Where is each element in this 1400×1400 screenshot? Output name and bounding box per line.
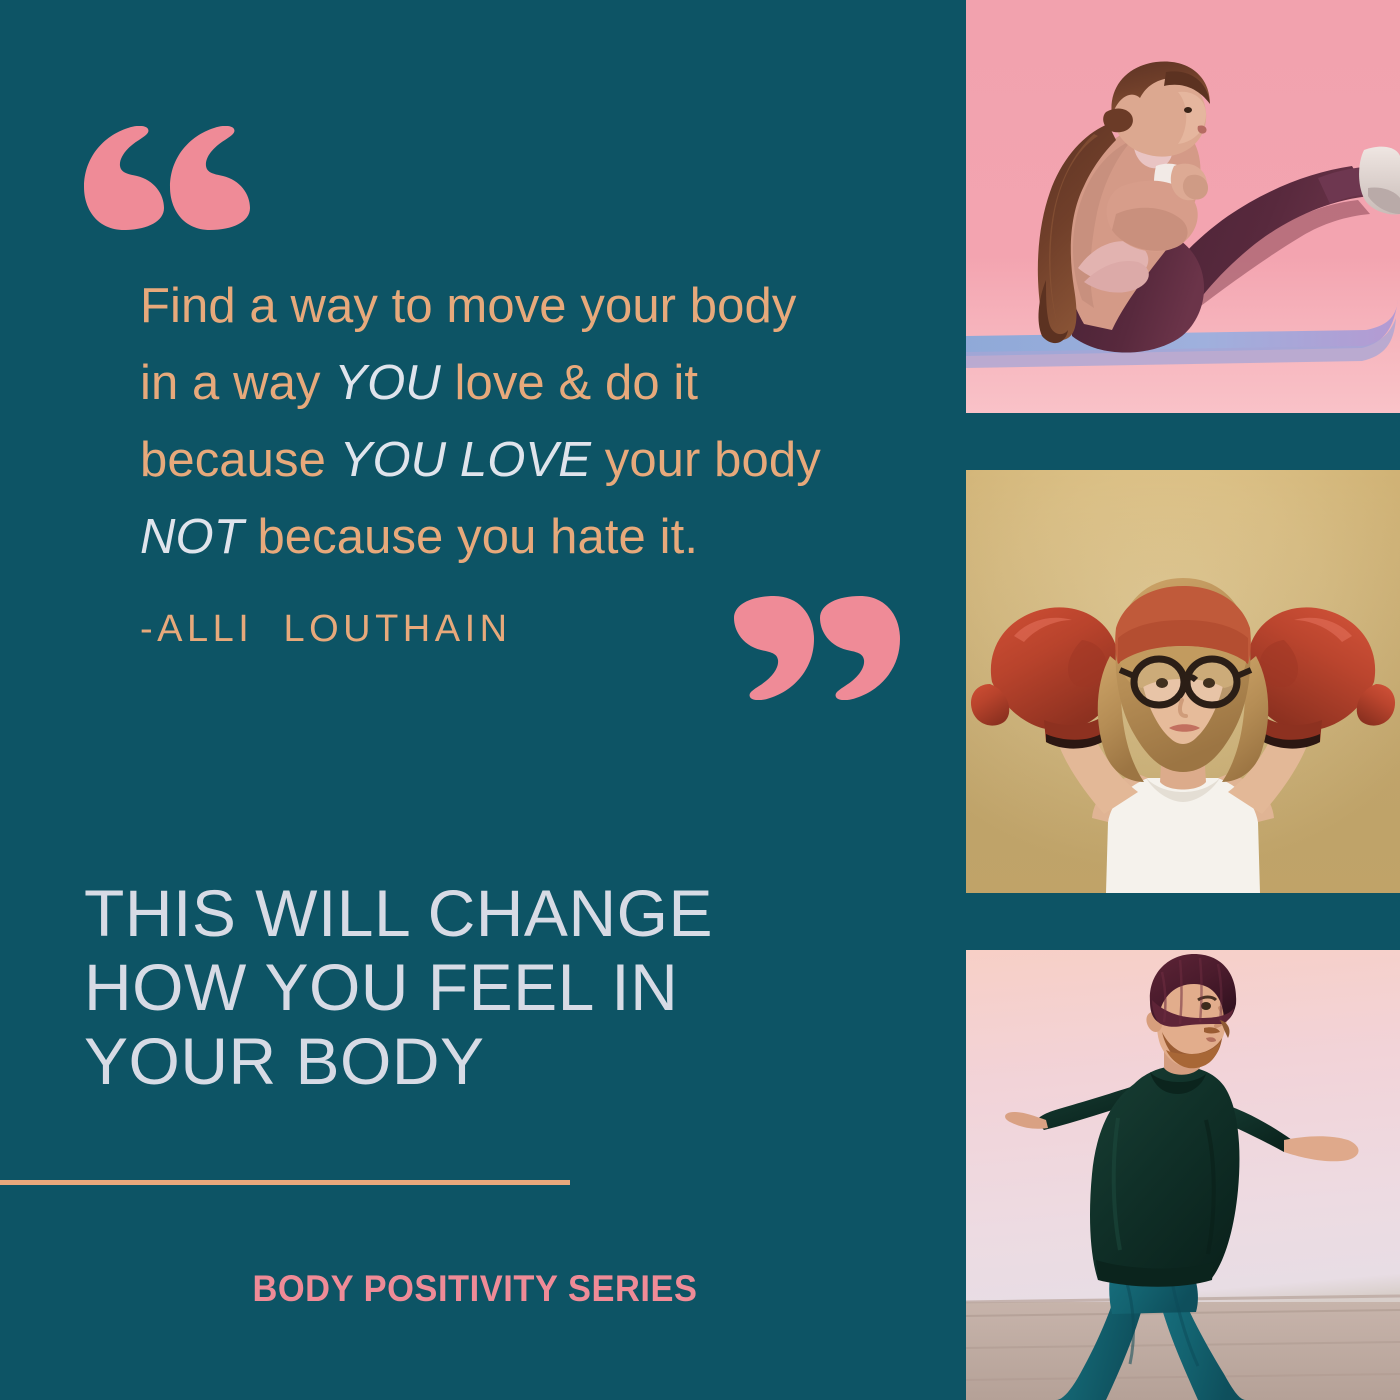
- text-column: Find a way to move your body in a way YO…: [0, 0, 960, 1400]
- headline-line-3: YOUR BODY: [84, 1024, 874, 1098]
- opening-quote-icon: [84, 126, 250, 230]
- poster-canvas: Find a way to move your body in a way YO…: [0, 0, 1400, 1400]
- quote-text: Find a way to move your body in a way YO…: [140, 268, 900, 576]
- quote-line-3: because YOU LOVE your body: [140, 433, 821, 487]
- quote-line-1: Find a way to move your body: [140, 279, 796, 333]
- girl-boxing-gloves-photo: [966, 470, 1400, 893]
- woman-ab-exercise-photo: [966, 0, 1400, 413]
- man-warrior-pose-photo: [966, 950, 1400, 1400]
- headline-line-1: THIS WILL CHANGE: [84, 876, 874, 950]
- series-label: BODY POSITIVITY SERIES: [33, 1268, 917, 1310]
- quote-line-2: in a way YOU love & do it: [140, 356, 698, 410]
- headline-line-2: HOW YOU FEEL IN: [84, 950, 874, 1024]
- quote-line-4: NOT because you hate it.: [140, 510, 698, 564]
- closing-quote-icon: [734, 596, 900, 700]
- divider-rule: [0, 1180, 570, 1185]
- page-title: THIS WILL CHANGE HOW YOU FEEL IN YOUR BO…: [84, 876, 874, 1098]
- quote-attribution: -ALLI LOUTHAIN: [140, 608, 512, 651]
